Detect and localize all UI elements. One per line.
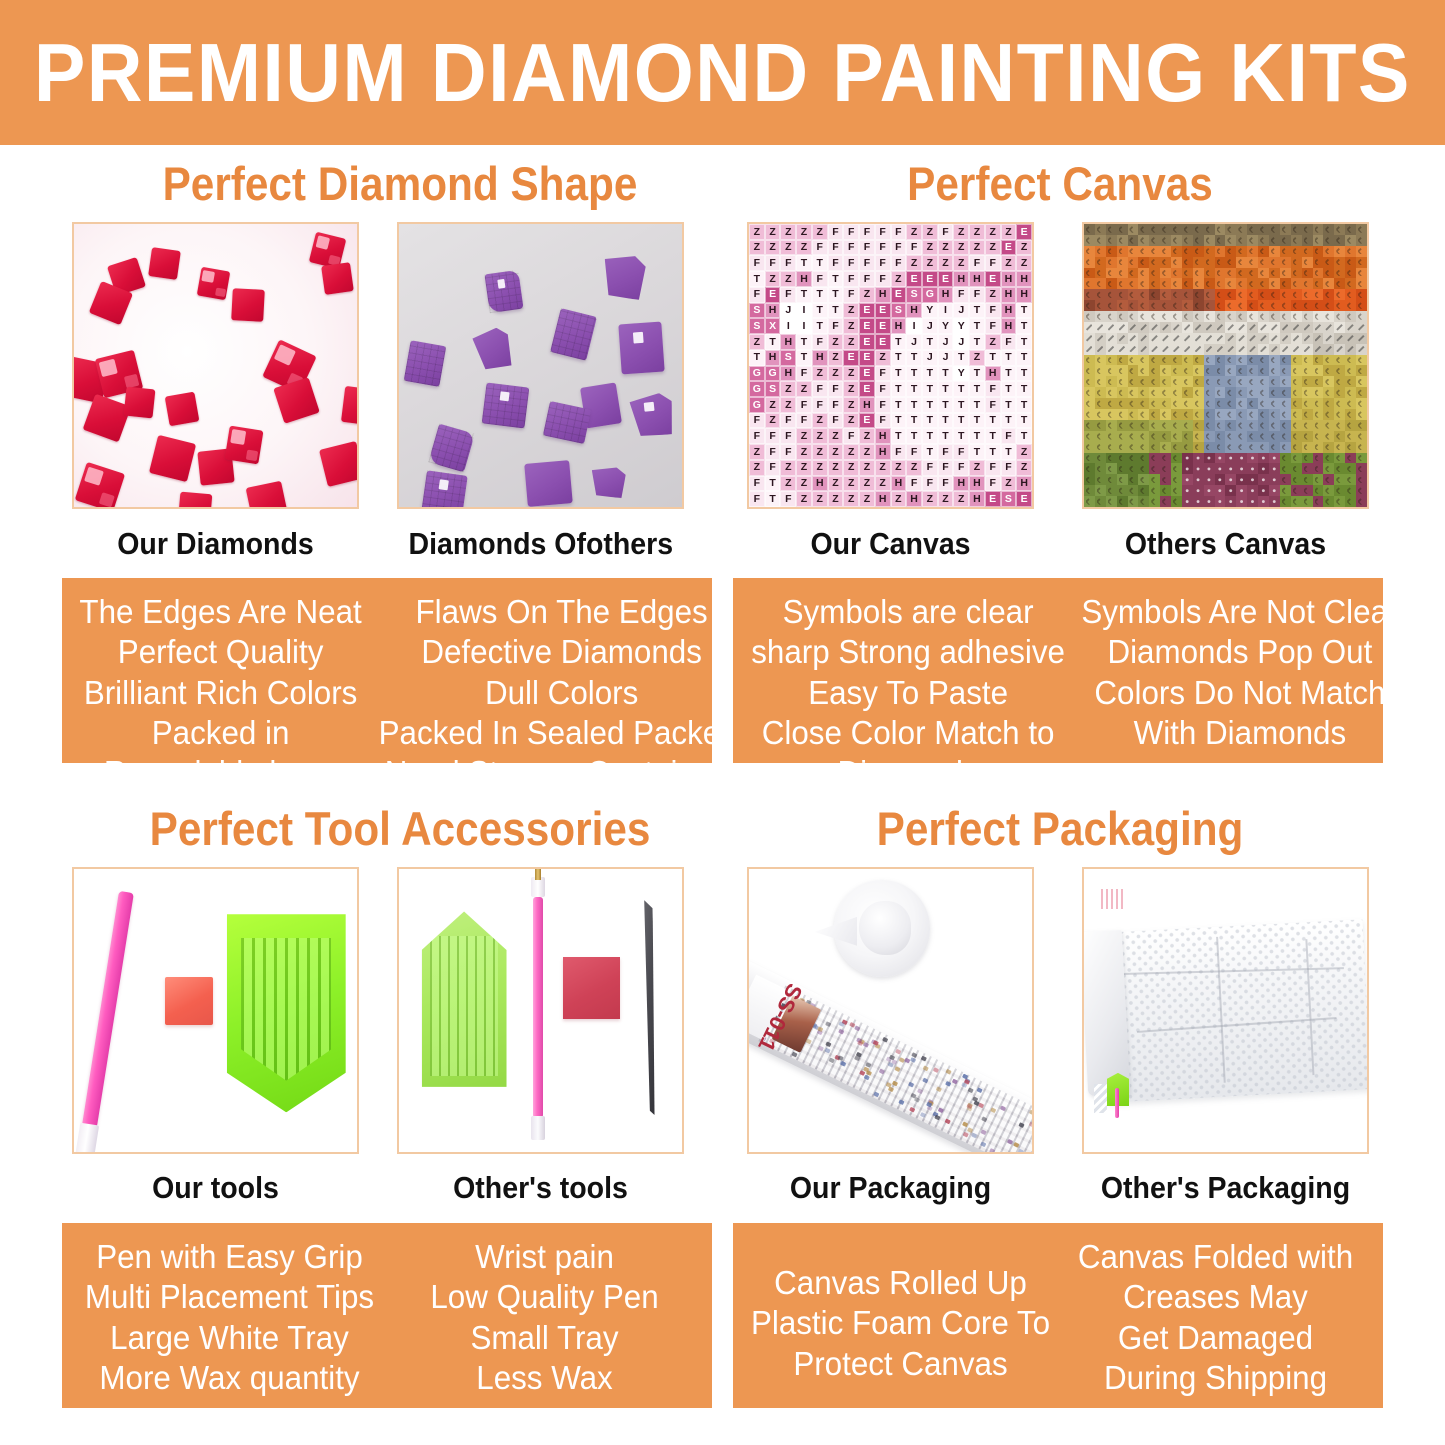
canvas-symbol-cell	[1323, 442, 1334, 453]
canvas-symbol-cell: T	[953, 397, 969, 413]
canvas-symbol-cell: T	[765, 334, 781, 350]
canvas-symbol-cell: F	[985, 381, 1001, 397]
canvas-symbol-cell: Z	[796, 444, 812, 460]
canvas-symbol-cell: T	[1016, 366, 1032, 382]
canvas-symbol-cell: Z	[828, 444, 844, 460]
canvas-symbol-cell	[1280, 311, 1291, 322]
canvas-symbol-cell	[1128, 333, 1139, 344]
canvas-symbol-cell	[1149, 496, 1160, 507]
canvas-symbol-cell	[1334, 300, 1345, 311]
canvas-symbol-cell	[1160, 257, 1171, 268]
canvas-symbol-cell: H	[859, 397, 875, 413]
canvas-symbol-cell	[1225, 463, 1236, 474]
canvas-symbol-cell: Z	[749, 334, 765, 350]
canvas-symbol-cell: F	[780, 287, 796, 303]
canvas-symbol-cell: F	[985, 318, 1001, 334]
canvas-symbol-cell	[1117, 431, 1128, 442]
compare-line: Get Damaged	[1066, 1318, 1365, 1358]
canvas-symbol-cell	[1106, 376, 1117, 387]
canvas-symbol-cell: T	[891, 366, 907, 382]
canvas-symbol-cell	[1302, 311, 1313, 322]
canvas-speck	[1018, 1149, 1024, 1152]
canvas-speck	[971, 1133, 977, 1139]
canvas-symbol-cell	[1356, 333, 1367, 344]
canvas-symbol-cell: F	[812, 334, 828, 350]
canvas-symbol-cell	[1356, 311, 1367, 322]
canvas-symbol-cell	[1291, 278, 1302, 289]
canvas-symbol-cell	[1334, 278, 1345, 289]
canvas-symbol-cell	[1269, 333, 1280, 344]
canvas-symbol-cell: F	[749, 428, 765, 444]
canvas-symbol-cell	[1258, 409, 1269, 420]
canvas-symbol-cell	[1356, 485, 1367, 496]
canvas-symbol-cell	[1182, 485, 1193, 496]
canvas-symbol-cell: T	[1016, 334, 1032, 350]
canvas-symbol-cell	[1345, 257, 1356, 268]
canvas-symbol-cell: Z	[812, 491, 828, 507]
compare-line: Defective Diamonds	[379, 632, 745, 672]
canvas-symbol-cell: T	[828, 303, 844, 319]
canvas-symbol-cell	[1313, 420, 1324, 431]
canvas-symbol-cell: Z	[969, 240, 985, 256]
canvas-symbol-cell: Z	[843, 444, 859, 460]
canvas-symbol-cell: H	[1016, 287, 1032, 303]
canvas-symbol-cell: Z	[780, 381, 796, 397]
canvas-symbol-cell	[1313, 474, 1324, 485]
canvas-symbol-cell	[1280, 420, 1291, 431]
canvas-symbol-cell	[1247, 224, 1258, 235]
canvas-symbol-cell	[1095, 485, 1106, 496]
canvas-symbol-cell: Z	[843, 381, 859, 397]
canvas-speck	[980, 1130, 986, 1136]
canvas-symbol-cell	[1313, 235, 1324, 246]
canvas-symbol-cell	[1334, 398, 1345, 409]
canvas-symbol-cell	[1160, 300, 1171, 311]
canvas-symbol-cell	[1193, 453, 1204, 464]
canvas-symbol-cell	[1193, 420, 1204, 431]
canvas-symbol-cell: E	[859, 334, 875, 350]
diamond-drill	[165, 391, 199, 425]
canvas-symbol-cell	[1095, 246, 1106, 257]
diamond-drill	[543, 401, 591, 444]
canvas-symbol-cell	[1323, 257, 1334, 268]
rolled-tube-icon: SS-011	[749, 958, 1032, 1152]
canvas-symbol-cell: H	[765, 303, 781, 319]
canvas-symbol-cell	[1313, 496, 1324, 507]
canvas-symbol-cell: F	[859, 240, 875, 256]
canvas-symbol-cell	[1323, 387, 1334, 398]
canvas-symbol-cell	[1095, 344, 1106, 355]
canvas-symbol-cell: Z	[985, 287, 1001, 303]
canvas-symbol-cell	[1247, 278, 1258, 289]
canvas-speck	[792, 1052, 798, 1058]
canvas-symbol-cell: Z	[828, 476, 844, 492]
canvas-speck	[910, 1057, 916, 1063]
canvas-symbol-cell	[1160, 409, 1171, 420]
canvas-symbol-cell: T	[812, 303, 828, 319]
canvas-symbol-cell	[1258, 300, 1269, 311]
canvas-symbol-cell	[1225, 376, 1236, 387]
muddy-canvas-art	[1084, 224, 1367, 507]
canvas-symbol-cell: T	[891, 428, 907, 444]
diamond-drill	[177, 492, 212, 507]
canvas-symbol-cell: F	[891, 240, 907, 256]
canvas-symbol-cell: F	[938, 224, 954, 240]
canvas-speck	[923, 1066, 929, 1072]
canvas-speck	[1014, 1142, 1020, 1148]
canvas-symbol-cell	[1247, 485, 1258, 496]
canvas-symbol-cell	[1149, 420, 1160, 431]
canvas-symbol-cell	[1334, 289, 1345, 300]
tube-packaging-art: SS-011	[749, 869, 1032, 1152]
canvas-symbol-cell	[1149, 268, 1160, 279]
canvas-symbol-cell: T	[922, 381, 938, 397]
compare-box-tools: Pen with Easy Grip Multi Placement Tips …	[62, 1223, 712, 1408]
canvas-symbol-cell	[1106, 300, 1117, 311]
canvas-symbol-cell: Z	[1001, 476, 1017, 492]
canvas-symbol-cell	[1356, 235, 1367, 246]
canvas-symbol-cell	[1149, 278, 1160, 289]
compare-line: Packed in	[79, 713, 361, 753]
canvas-symbol-cell	[1138, 442, 1149, 453]
canvas-symbol-cell: T	[891, 413, 907, 429]
compare-line: More Wax quantity	[80, 1358, 379, 1398]
canvas-symbol-cell	[1236, 398, 1247, 409]
canvas-symbol-cell	[1128, 420, 1139, 431]
canvas-symbol-cell	[1095, 453, 1106, 464]
canvas-symbol-cell	[1117, 224, 1128, 235]
canvas-symbol-cell	[1280, 224, 1291, 235]
canvas-speck	[963, 1121, 969, 1127]
canvas-symbol-cell: J	[938, 334, 954, 350]
canvas-symbol-cell: F	[985, 303, 1001, 319]
canvas-symbol-cell: T	[765, 491, 781, 507]
canvas-symbol-cell: F	[812, 271, 828, 287]
canvas-symbol-cell: T	[985, 413, 1001, 429]
photo-our-diamonds	[72, 222, 359, 509]
canvas-symbol-cell	[1356, 420, 1367, 431]
canvas-symbol-cell	[1138, 409, 1149, 420]
compare-ours-canvas: Symbols are clear sharp Strong adhesive …	[751, 592, 1065, 793]
canvas-symbol-cell	[1356, 453, 1367, 464]
canvas-symbol-cell	[1345, 409, 1356, 420]
canvas-symbol-cell	[1182, 453, 1193, 464]
canvas-symbol-cell	[1182, 420, 1193, 431]
canvas-symbol-cell: Z	[859, 460, 875, 476]
canvas-symbol-cell	[1225, 224, 1236, 235]
canvas-symbol-cell	[1334, 246, 1345, 257]
caption-others-diamonds: Diamonds Ofothers	[408, 528, 672, 559]
canvas-symbol-cell	[1356, 300, 1367, 311]
canvas-symbol-cell: Z	[922, 224, 938, 240]
canvas-symbol-cell: F	[843, 224, 859, 240]
canvas-symbol-cell	[1204, 333, 1215, 344]
canvas-symbol-cell: F	[828, 397, 844, 413]
compare-others-canvas: Symbols Are Not Clear Diamonds Pop Out C…	[1082, 592, 1399, 753]
canvas-symbol-cell	[1269, 485, 1280, 496]
canvas-symbol-cell: F	[969, 255, 985, 271]
canvas-symbol-cell	[1258, 344, 1269, 355]
compare-line: Canvas Folded with	[1066, 1237, 1365, 1277]
canvas-symbol-cell: E	[906, 271, 922, 287]
canvas-symbol-cell	[1323, 268, 1334, 279]
canvas-symbol-cell	[1204, 453, 1215, 464]
canvas-symbol-cell	[1356, 355, 1367, 366]
canvas-symbol-cell: T	[969, 444, 985, 460]
canvas-symbol-cell	[1160, 398, 1171, 409]
canvas-symbol-cell	[1117, 278, 1128, 289]
canvas-speck	[838, 1029, 844, 1035]
canvas-symbol-cell	[1106, 278, 1117, 289]
canvas-symbol-cell: H	[985, 366, 1001, 382]
canvas-symbol-cell	[1171, 333, 1182, 344]
canvas-symbol-cell: T	[891, 334, 907, 350]
canvas-symbol-cell: Z	[859, 428, 875, 444]
canvas-symbol-cell	[1128, 268, 1139, 279]
canvas-symbol-cell: F	[780, 491, 796, 507]
canvas-symbol-cell: T	[812, 255, 828, 271]
canvas-symbol-cell	[1291, 322, 1302, 333]
canvas-symbol-cell: Y	[953, 366, 969, 382]
canvas-symbol-cell	[1236, 300, 1247, 311]
canvas-symbol-cell	[1084, 496, 1095, 507]
canvas-symbol-cell	[1291, 355, 1302, 366]
canvas-symbol-cell	[1128, 300, 1139, 311]
canvas-symbol-cell	[1269, 442, 1280, 453]
canvas-symbol-cell	[1280, 442, 1291, 453]
compare-line: Need Storage Containers	[379, 753, 745, 793]
canvas-symbol-cell	[1084, 365, 1095, 376]
canvas-symbol-cell	[1160, 289, 1171, 300]
canvas-symbol-cell	[1138, 257, 1149, 268]
canvas-symbol-cell: T	[922, 334, 938, 350]
canvas-symbol-cell	[1128, 289, 1139, 300]
canvas-symbol-cell: F	[922, 476, 938, 492]
canvas-symbol-cell: F	[922, 460, 938, 476]
canvas-symbol-cell	[1193, 278, 1204, 289]
canvas-symbol-cell	[1160, 278, 1171, 289]
canvas-symbol-cell: T	[953, 428, 969, 444]
canvas-symbol-cell	[1258, 420, 1269, 431]
canvas-symbol-cell	[1095, 409, 1106, 420]
canvas-symbol-cell: I	[780, 318, 796, 334]
canvas-symbol-cell	[1291, 246, 1302, 257]
canvas-symbol-cell	[1291, 409, 1302, 420]
canvas-symbol-cell: Z	[796, 460, 812, 476]
canvas-symbol-cell	[1106, 246, 1117, 257]
canvas-symbol-cell	[1193, 496, 1204, 507]
caption-our-canvas: Our Canvas	[758, 528, 1022, 559]
canvas-symbol-cell: Z	[812, 444, 828, 460]
compare-line: Symbols are clear	[751, 592, 1065, 632]
diamond-drill	[618, 322, 664, 375]
canvas-symbol-cell	[1138, 496, 1149, 507]
compare-box-diamond-shape: The Edges Are Neat Perfect Quality Brill…	[62, 578, 712, 763]
canvas-symbol-cell: H	[765, 350, 781, 366]
canvas-symbol-cell: F	[828, 381, 844, 397]
canvas-symbol-cell	[1117, 453, 1128, 464]
canvas-symbol-cell	[1236, 420, 1247, 431]
canvas-symbol-cell	[1215, 398, 1226, 409]
canvas-symbol-cell	[1291, 442, 1302, 453]
canvas-symbol-cell	[1345, 442, 1356, 453]
canvas-symbol-cell	[1171, 224, 1182, 235]
diamond-drill	[428, 423, 475, 472]
canvas-symbol-cell	[1117, 311, 1128, 322]
canvas-symbol-cell: F	[812, 381, 828, 397]
canvas-symbol-cell	[1215, 246, 1226, 257]
canvas-symbol-cell	[1280, 463, 1291, 474]
canvas-symbol-cell: F	[953, 287, 969, 303]
canvas-symbol-cell	[1302, 235, 1313, 246]
canvas-symbol-cell	[1117, 289, 1128, 300]
compare-ours-tools: Pen with Easy Grip Multi Placement Tips …	[80, 1237, 379, 1398]
canvas-symbol-cell: Z	[1016, 444, 1032, 460]
canvas-symbol-cell	[1182, 322, 1193, 333]
canvas-symbol-cell	[1313, 311, 1324, 322]
canvas-symbol-cell	[1095, 365, 1106, 376]
canvas-symbol-cell	[1291, 387, 1302, 398]
canvas-symbol-cell	[1084, 322, 1095, 333]
canvas-symbol-cell	[1171, 398, 1182, 409]
canvas-symbol-cell	[1215, 376, 1226, 387]
compare-line: Close Color Match to	[751, 713, 1065, 753]
canvas-symbol-cell	[1302, 300, 1313, 311]
canvas-symbol-cell	[1247, 474, 1258, 485]
canvas-symbol-cell	[1095, 431, 1106, 442]
canvas-symbol-cell	[1345, 355, 1356, 366]
canvas-symbol-cell	[1149, 485, 1160, 496]
canvas-symbol-cell: Z	[828, 491, 844, 507]
canvas-symbol-cell: E	[1016, 491, 1032, 507]
compare-line: Protect Canvas	[751, 1344, 1050, 1384]
canvas-symbol-cell	[1117, 268, 1128, 279]
canvas-symbol-cell: Z	[765, 413, 781, 429]
canvas-symbol-cell	[1128, 322, 1139, 333]
canvas-symbol-cell: T	[985, 350, 1001, 366]
canvas-symbol-cell	[1247, 409, 1258, 420]
canvas-symbol-cell: F	[828, 413, 844, 429]
canvas-symbol-cell: S	[780, 350, 796, 366]
canvas-symbol-cell	[1345, 365, 1356, 376]
canvas-symbol-cell	[1095, 300, 1106, 311]
canvas-symbol-cell	[1356, 409, 1367, 420]
canvas-symbol-cell	[1247, 442, 1258, 453]
canvas-symbol-cell: H	[938, 287, 954, 303]
canvas-symbol-cell: Z	[780, 240, 796, 256]
canvas-symbol-cell: Z	[843, 334, 859, 350]
canvas-symbol-cell	[1247, 246, 1258, 257]
canvas-symbol-cell	[1334, 355, 1345, 366]
canvas-symbol-cell	[1149, 289, 1160, 300]
canvas-symbol-cell	[1106, 474, 1117, 485]
canvas-symbol-cell: Z	[796, 240, 812, 256]
canvas-symbol-cell	[1138, 431, 1149, 442]
canvas-symbol-cell	[1215, 365, 1226, 376]
canvas-symbol-cell	[1149, 376, 1160, 387]
canvas-symbol-cell	[1193, 246, 1204, 257]
canvas-symbol-cell	[1258, 333, 1269, 344]
canvas-symbol-cell	[1095, 355, 1106, 366]
canvas-symbol-cell	[1291, 300, 1302, 311]
compare-line: Dull Colors	[379, 673, 745, 713]
canvas-symbol-cell	[1106, 224, 1117, 235]
canvas-symbol-cell	[1160, 387, 1171, 398]
canvas-symbol-cell	[1247, 289, 1258, 300]
canvas-symbol-cell: Z	[780, 224, 796, 240]
canvas-symbol-cell	[1128, 398, 1139, 409]
page-title: PREMIUM DIAMOND PAINTING KITS	[34, 31, 1411, 114]
canvas-speck	[921, 1055, 927, 1061]
canvas-symbol-cell	[1269, 300, 1280, 311]
canvas-symbol-cell: H	[780, 366, 796, 382]
canvas-symbol-cell	[1215, 355, 1226, 366]
canvas-symbol-cell: T	[938, 413, 954, 429]
canvas-symbol-cell: T	[953, 350, 969, 366]
canvas-symbol-cell	[1334, 365, 1345, 376]
canvas-symbol-cell	[1138, 453, 1149, 464]
canvas-symbol-cell	[1128, 463, 1139, 474]
canvas-symbol-cell: Z	[843, 413, 859, 429]
canvas-speck	[1018, 1122, 1024, 1128]
canvas-symbol-cell	[1117, 420, 1128, 431]
canvas-symbol-cell	[1084, 463, 1095, 474]
canvas-symbol-cell	[1291, 398, 1302, 409]
canvas-symbol-cell: Z	[875, 350, 891, 366]
canvas-symbol-cell: J	[922, 318, 938, 334]
canvas-symbol-cell	[1084, 257, 1095, 268]
canvas-speck	[990, 1107, 996, 1113]
canvas-symbol-cell	[1084, 235, 1095, 246]
canvas-symbol-cell	[1247, 355, 1258, 366]
canvas-symbol-cell: Z	[1016, 460, 1032, 476]
canvas-symbol-cell	[1182, 442, 1193, 453]
canvas-symbol-cell	[1269, 235, 1280, 246]
canvas-symbol-cell: F	[749, 413, 765, 429]
compare-box-packaging: Canvas Rolled Up Plastic Foam Core To Pr…	[733, 1223, 1383, 1408]
compare-others-diamond-shape: Flaws On The Edges Defective Diamonds Du…	[379, 592, 745, 793]
canvas-symbol-cell	[1334, 387, 1345, 398]
canvas-symbol-cell	[1128, 387, 1139, 398]
canvas-symbol-cell: S	[749, 318, 765, 334]
canvas-symbol-cell	[1302, 257, 1313, 268]
canvas-symbol-cell	[1280, 333, 1291, 344]
canvas-symbol-cell	[1302, 409, 1313, 420]
canvas-symbol-cell: H	[1001, 303, 1017, 319]
canvas-symbol-cell	[1280, 376, 1291, 387]
canvas-symbol-cell	[1117, 474, 1128, 485]
canvas-symbol-cell: T	[969, 366, 985, 382]
canvas-symbol-cell	[1291, 257, 1302, 268]
canvas-symbol-cell	[1236, 485, 1247, 496]
canvas-symbol-cell: Z	[812, 413, 828, 429]
canvas-symbol-cell: H	[812, 476, 828, 492]
canvas-symbol-cell: T	[1001, 366, 1017, 382]
canvas-symbol-cell	[1236, 268, 1247, 279]
canvas-symbol-cell	[1182, 409, 1193, 420]
canvas-speck	[917, 1088, 923, 1094]
canvas-symbol-cell	[1084, 224, 1095, 235]
canvas-speck	[935, 1114, 941, 1120]
canvas-speck	[920, 1111, 926, 1117]
canvas-symbol-cell	[1313, 431, 1324, 442]
canvas-speck	[1007, 1139, 1013, 1145]
canvas-symbol-cell	[1106, 409, 1117, 420]
canvas-symbol-cell	[1258, 355, 1269, 366]
canvas-symbol-cell: I	[796, 318, 812, 334]
canvas-symbol-cell	[1215, 420, 1226, 431]
canvas-symbol-cell	[1258, 246, 1269, 257]
